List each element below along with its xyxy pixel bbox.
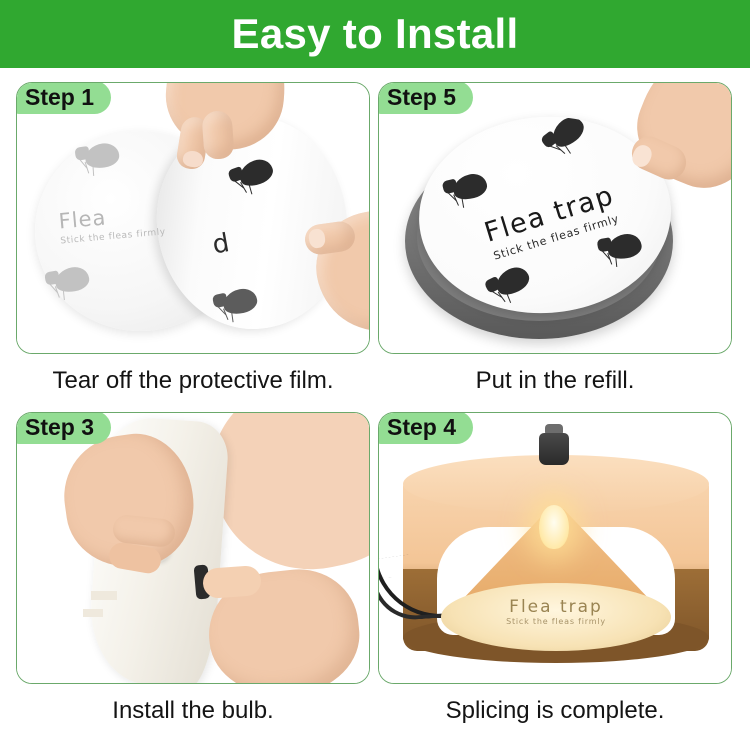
step-3-photo (17, 413, 369, 683)
step-cell-3: Step 3 Install the bulb. (16, 412, 376, 742)
flea-icon (442, 174, 487, 202)
step-badge-1: Step 1 (16, 82, 111, 114)
step-5-photo: Flea trap Stick the fleas firmly (379, 83, 731, 353)
lit-bulb (539, 505, 569, 549)
installed-pad-brand-text: Flea trap (441, 597, 671, 617)
step-panel-1: Flea Stick the fleas firmly p (16, 82, 370, 354)
installed-pad-tagline-text: Stick the fleas firmly (441, 617, 671, 626)
flea-icon (44, 265, 90, 295)
finger-thumb-right (202, 565, 262, 599)
step-caption-3: Install the bulb. (16, 698, 370, 724)
step-caption-2: Put in the refill. (378, 368, 732, 394)
finger-index-left (201, 110, 234, 160)
step-1-photo: Flea Stick the fleas firmly p (17, 83, 369, 353)
step-panel-3: Step 3 (16, 412, 370, 684)
flea-icon (538, 114, 589, 155)
step-badge-2: Step 5 (378, 82, 473, 114)
housing-tab (91, 591, 117, 600)
step-cell-2: Flea trap Stick the fleas firmly (378, 82, 738, 412)
infographic-page: Easy to Install Flea (0, 0, 750, 750)
flea-icon (596, 232, 642, 262)
step-4-photo: Flea trap Stick the fleas firmly (379, 413, 731, 683)
step-cell-4: Flea trap Stick the fleas firmly Step 4 … (378, 412, 738, 742)
step-caption-4: Splicing is complete. (378, 698, 732, 724)
installed-pad-text: Flea trap Stick the fleas firmly (441, 597, 671, 626)
step-badge-3: Step 3 (16, 412, 111, 444)
header-banner: Easy to Install (0, 0, 750, 68)
step-panel-2: Flea trap Stick the fleas firmly (378, 82, 732, 354)
assembled-flea-trap-lamp: Flea trap Stick the fleas firmly (403, 451, 709, 663)
flea-icon (212, 287, 258, 316)
step-badge-4: Step 4 (378, 412, 473, 444)
step-caption-1: Tear off the protective film. (16, 368, 370, 394)
step-cell-1: Flea Stick the fleas firmly p (16, 82, 376, 412)
steps-grid: Flea Stick the fleas firmly p (0, 72, 750, 750)
installed-flea-pad: Flea trap Stick the fleas firmly (441, 583, 671, 651)
flea-icon (484, 266, 532, 299)
flea-icon (228, 159, 274, 188)
housing-tab (83, 609, 103, 617)
hanger-knob (539, 433, 569, 465)
page-title: Easy to Install (232, 13, 519, 55)
step-panel-4: Flea trap Stick the fleas firmly Step 4 (378, 412, 732, 684)
